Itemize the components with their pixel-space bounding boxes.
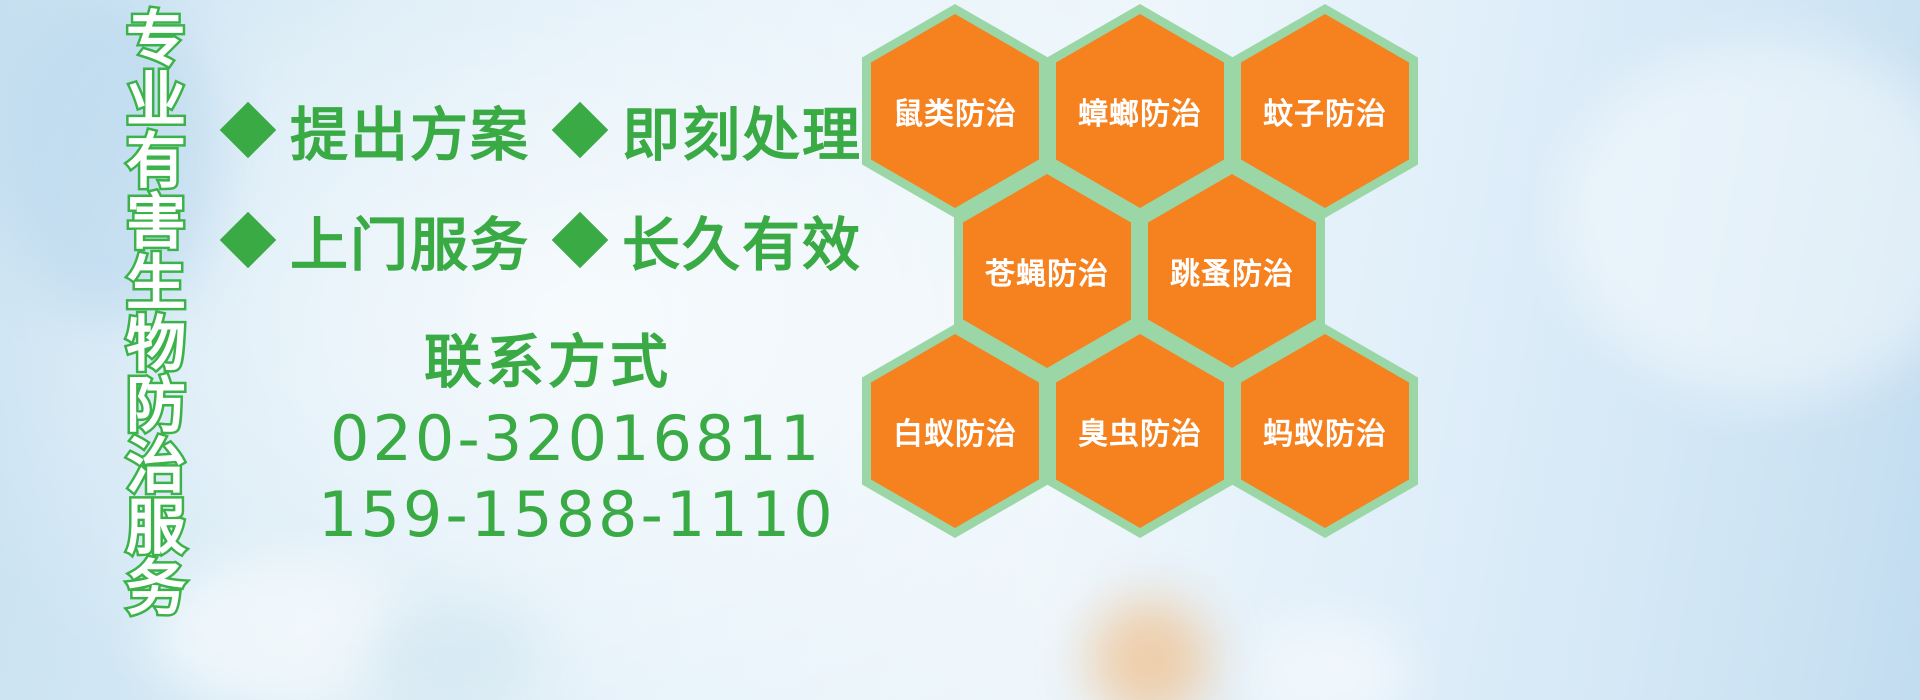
background-blob xyxy=(1560,40,1920,400)
feature-item: 上门服务 xyxy=(228,198,530,282)
service-hex-label: 白蚁防治 xyxy=(893,409,1017,453)
background-blob xyxy=(150,560,410,700)
feature-row-1: 提出方案 即刻处理 xyxy=(228,88,862,172)
feature-item: 长久有效 xyxy=(560,198,862,282)
vertical-title-char: 生 xyxy=(126,254,186,315)
vertical-title: 专 业 有 害 生 物 防 治 服 务 xyxy=(104,10,208,570)
service-hex-label: 臭虫防治 xyxy=(1078,409,1202,453)
feature-label: 即刻处理 xyxy=(622,88,862,172)
contact-heading: 联系方式 xyxy=(424,315,672,399)
service-hex-label: 蚂蚁防治 xyxy=(1263,409,1387,453)
feature-label: 上门服务 xyxy=(290,198,530,282)
feature-label: 提出方案 xyxy=(290,88,530,172)
vertical-title-char: 有 xyxy=(126,132,186,193)
diamond-icon xyxy=(552,212,609,269)
vertical-title-char: 防 xyxy=(126,376,186,437)
background-blob xyxy=(360,600,540,700)
phone-landline[interactable]: 020-32016811 xyxy=(330,402,822,475)
background-blob xyxy=(1090,600,1210,700)
vertical-title-char: 专 xyxy=(126,10,186,71)
diamond-icon xyxy=(552,102,609,159)
vertical-title-char: 害 xyxy=(126,193,186,254)
feature-item: 提出方案 xyxy=(228,88,530,172)
service-honeycomb: 鼠类防治 蟑螂防治 蚊子防治 苍蝇防治 跳蚤防治 白蚁防治 臭虫防治 蚂蚁 xyxy=(862,0,1462,556)
service-hex-label: 蚊子防治 xyxy=(1263,89,1387,133)
feature-label: 长久有效 xyxy=(622,198,862,282)
service-hex-label: 蟑螂防治 xyxy=(1078,89,1202,133)
feature-row-2: 上门服务 长久有效 xyxy=(228,198,862,282)
diamond-icon xyxy=(220,212,277,269)
feature-item: 即刻处理 xyxy=(560,88,862,172)
vertical-title-char: 物 xyxy=(126,315,186,376)
diamond-icon xyxy=(220,102,277,159)
background-blob xyxy=(1250,620,1410,700)
vertical-title-char: 治 xyxy=(126,437,186,498)
vertical-title-char: 业 xyxy=(126,71,186,132)
banner-stage: 专 业 有 害 生 物 防 治 服 务 提出方案 即刻处理 上门服务 长久有效 xyxy=(0,0,1920,700)
vertical-title-char: 服 xyxy=(126,498,186,559)
service-hex-label: 鼠类防治 xyxy=(893,89,1017,133)
phone-mobile[interactable]: 159-1588-1110 xyxy=(318,478,836,551)
service-hex-label: 苍蝇防治 xyxy=(985,249,1109,293)
vertical-title-char: 务 xyxy=(126,559,186,620)
service-hex-label: 跳蚤防治 xyxy=(1170,249,1294,293)
